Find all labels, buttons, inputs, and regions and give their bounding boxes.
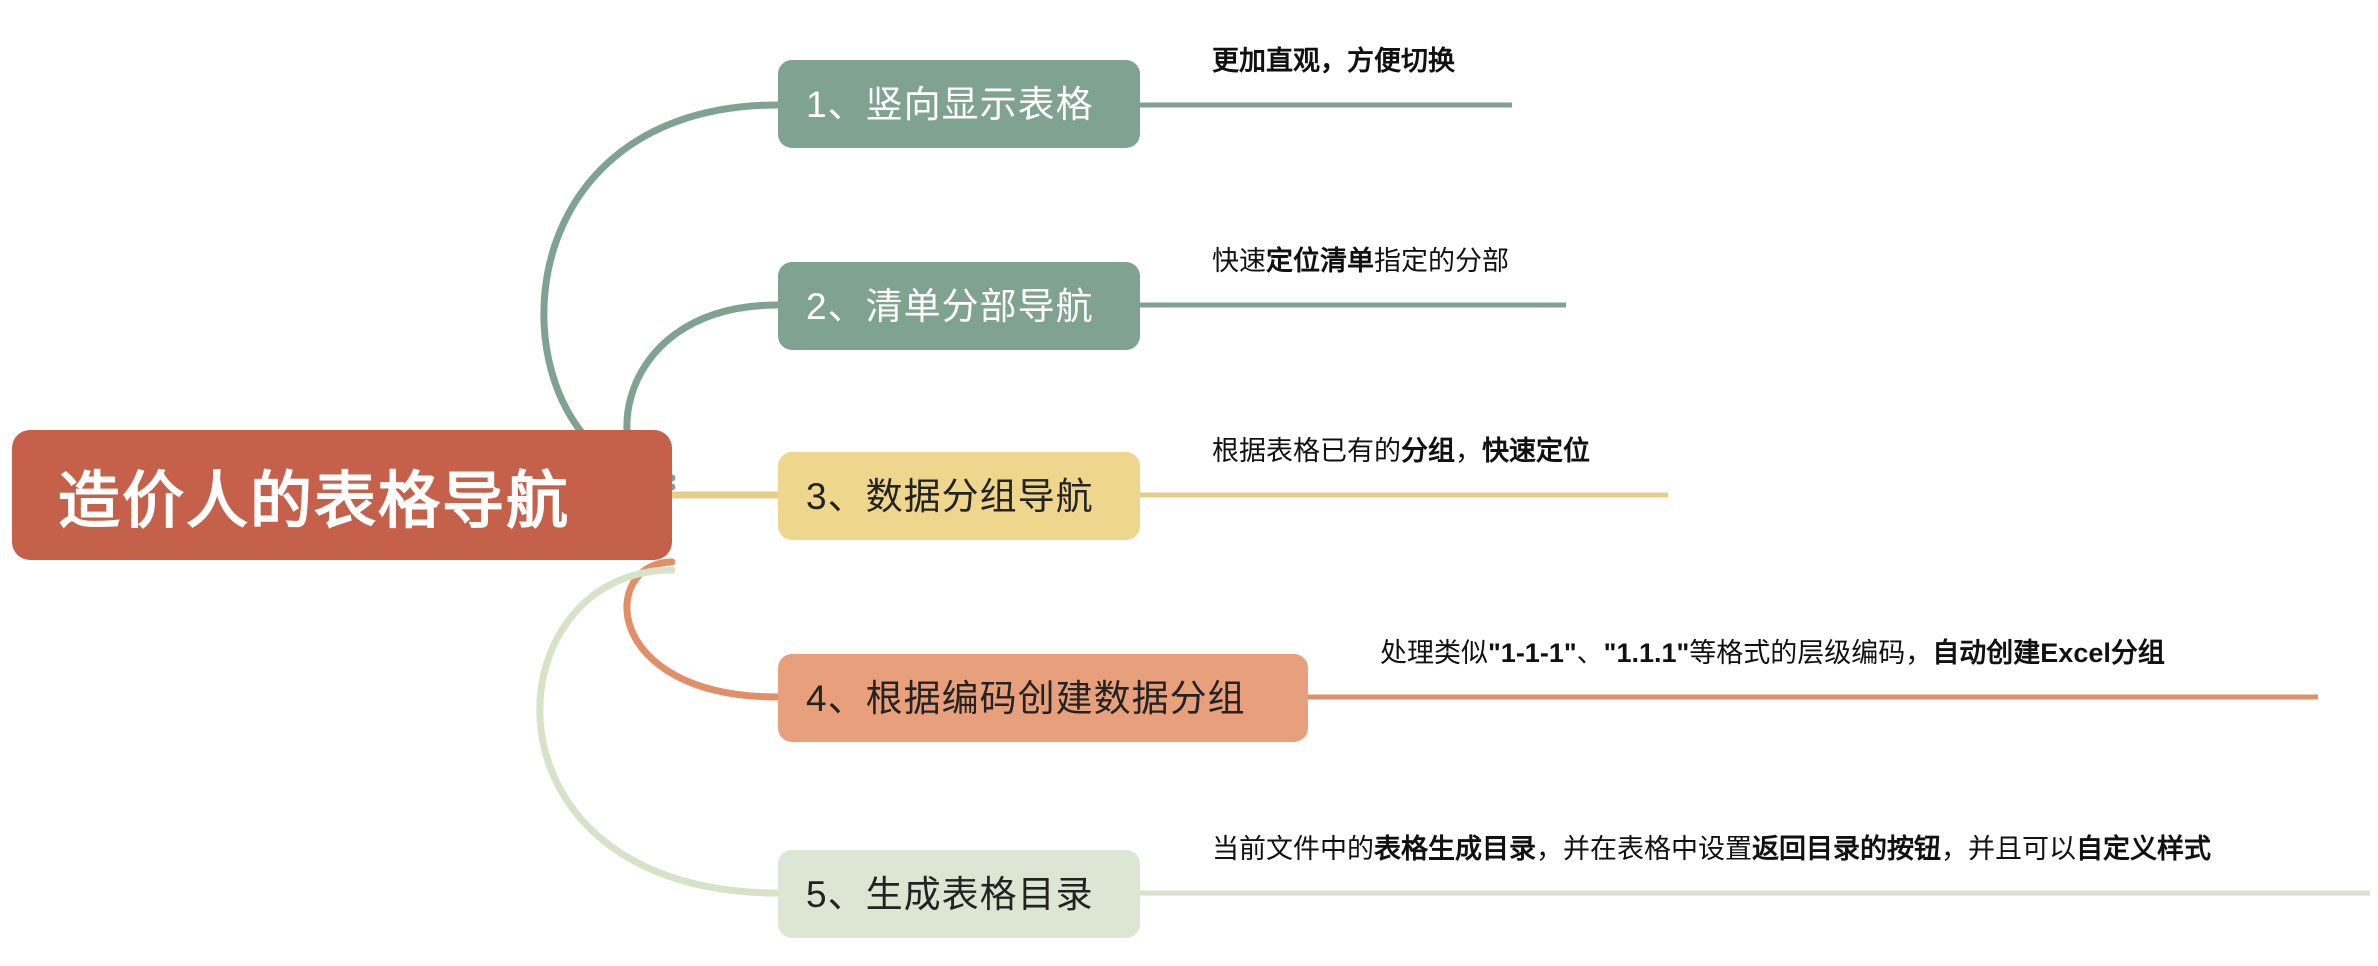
branch-node-3[interactable]: 3、数据分组导航 [778,452,1140,540]
branch-annotation-1: 更加直观，方便切换 [1212,48,1455,75]
annotation-3-segment-2: 分组 [1401,436,1455,466]
branch-annotation-5: 当前文件中的表格生成目录，并在表格中设置返回目录的按钮，并且可以自定义样式 [1212,836,2211,863]
annotation-3-segment-4: 快速定位 [1482,436,1590,466]
branch-node-1[interactable]: 1、竖向显示表格 [778,60,1140,148]
annotation-2-segment-1: 快速 [1212,246,1266,276]
connector-branch-4 [627,562,778,697]
branch-node-2[interactable]: 2、清单分部导航 [778,262,1140,350]
annotation-4-segment-1: 处理类似 [1380,638,1488,668]
branch-node-2-label: 2、清单分部导航 [806,288,1094,325]
annotation-5-segment-2: 表格生成目录 [1374,834,1536,864]
connector-branch-5 [540,570,778,893]
annotation-5-segment-4: 返回目录的按钮 [1752,834,1941,864]
annotation-1-segment-1: 更加直观，方便切换 [1212,46,1455,76]
annotation-5-segment-3: ，并在表格中设置 [1536,834,1752,864]
connector-branch-1 [544,105,778,478]
branch-annotation-4: 处理类似"1-1-1"、"1.1.1"等格式的层级编码，自动创建Excel分组 [1380,640,2165,667]
annotation-4-segment-2: "1-1-1" [1488,638,1577,668]
annotation-5-segment-6: 自定义样式 [2076,834,2211,864]
annotation-4-segment-3: 、 [1577,638,1604,668]
annotation-5-segment-1: 当前文件中的 [1212,834,1374,864]
branch-node-3-label: 3、数据分组导航 [806,478,1094,515]
root-node-label: 造价人的表格导航 [58,450,570,540]
annotation-4-segment-5: 等格式的层级编码， [1689,638,1932,668]
mindmap-canvas: 造价人的表格导航 1、竖向显示表格 更加直观，方便切换 2、清单分部导航 快速定… [0,0,2378,966]
root-node[interactable]: 造价人的表格导航 [12,430,672,560]
branch-node-1-label: 1、竖向显示表格 [806,86,1094,123]
branch-node-5-label: 5、生成表格目录 [806,876,1094,913]
annotation-2-segment-2: 定位清单 [1266,246,1374,276]
branch-node-5[interactable]: 5、生成表格目录 [778,850,1140,938]
annotation-2-segment-3: 指定的分部 [1374,246,1509,276]
annotation-3-segment-1: 根据表格已有的 [1212,436,1401,466]
branch-annotation-3: 根据表格已有的分组，快速定位 [1212,438,1590,465]
annotation-3-segment-3: ， [1455,436,1482,466]
annotation-4-segment-4: "1.1.1" [1604,638,1690,668]
branch-annotation-2: 快速定位清单指定的分部 [1212,248,1509,275]
branch-node-4[interactable]: 4、根据编码创建数据分组 [778,654,1308,742]
annotation-4-segment-6: 自动创建Excel分组 [1932,638,2165,668]
annotation-5-segment-5: ，并且可以 [1941,834,2076,864]
branch-node-4-label: 4、根据编码创建数据分组 [806,680,1246,717]
